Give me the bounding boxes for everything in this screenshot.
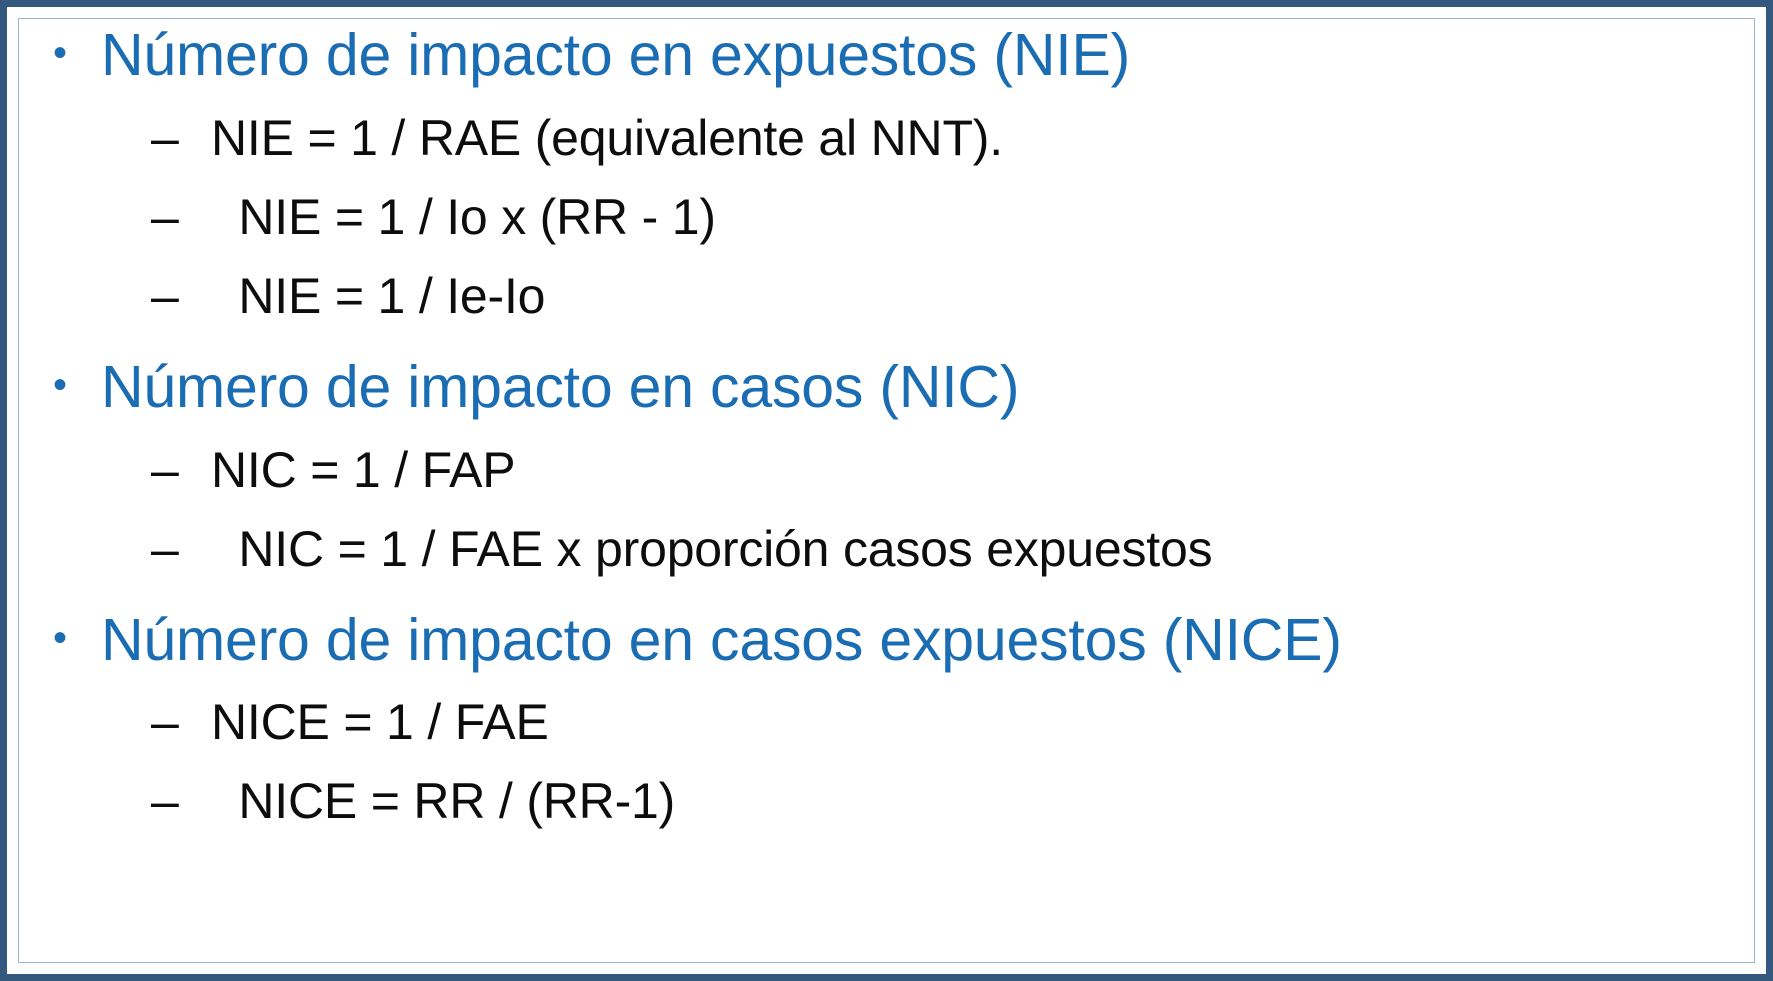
spacer <box>31 497 1742 523</box>
spacer <box>31 749 1742 775</box>
spacer <box>31 418 1742 444</box>
item-nie-io-rr-label: NIE = 1 / Io x (RR - 1) <box>211 191 716 244</box>
item-nic-fae-label: NIC = 1 / FAE x proporción casos expuest… <box>211 523 1212 576</box>
item-nice-fae-label: NICE = 1 / FAE <box>211 696 549 749</box>
item-nic-fap-label: NIC = 1 / FAP <box>211 444 515 497</box>
item-nic-fae: – NIC = 1 / FAE x proporción casos expue… <box>31 523 1742 576</box>
dash-icon: – <box>151 270 211 323</box>
spacer <box>31 244 1742 270</box>
dash-icon: – <box>151 696 211 749</box>
item-nie-rae-label: NIE = 1 / RAE (equivalente al NNT). <box>211 112 1003 165</box>
dash-icon: – <box>151 775 211 828</box>
dash-icon: – <box>151 523 211 576</box>
item-nie-ie-io: – NIE = 1 / Ie-Io <box>31 270 1742 323</box>
bullet-dot-icon: • <box>31 25 101 82</box>
dash-icon: – <box>151 444 211 497</box>
spacer <box>31 86 1742 112</box>
dash-icon: – <box>151 112 211 165</box>
heading-nie-label: Número de impacto en expuestos (NIE) <box>101 25 1130 86</box>
spacer <box>31 323 1742 357</box>
spacer <box>31 165 1742 191</box>
spacer <box>31 576 1742 610</box>
item-nie-io-rr: – NIE = 1 / Io x (RR - 1) <box>31 191 1742 244</box>
slide-content: • Número de impacto en expuestos (NIE) –… <box>21 19 1752 962</box>
heading-nic-label: Número de impacto en casos (NIC) <box>101 357 1019 418</box>
bullet-dot-icon: • <box>31 357 101 414</box>
bullet-dot-icon: • <box>31 610 101 667</box>
dash-icon: – <box>151 191 211 244</box>
heading-nice: • Número de impacto en casos expuestos (… <box>31 610 1742 671</box>
item-nie-rae: – NIE = 1 / RAE (equivalente al NNT). <box>31 112 1742 165</box>
heading-nice-label: Número de impacto en casos expuestos (NI… <box>101 610 1342 671</box>
spacer <box>31 670 1742 696</box>
item-nie-ie-io-label: NIE = 1 / Ie-Io <box>211 270 545 323</box>
slide-frame: • Número de impacto en expuestos (NIE) –… <box>0 0 1773 981</box>
item-nice-fae: – NICE = 1 / FAE <box>31 696 1742 749</box>
heading-nic: • Número de impacto en casos (NIC) <box>31 357 1742 418</box>
item-nice-rr-label: NICE = RR / (RR-1) <box>211 775 675 828</box>
item-nic-fap: – NIC = 1 / FAP <box>31 444 1742 497</box>
item-nice-rr: – NICE = RR / (RR-1) <box>31 775 1742 828</box>
heading-nie: • Número de impacto en expuestos (NIE) <box>31 25 1742 86</box>
